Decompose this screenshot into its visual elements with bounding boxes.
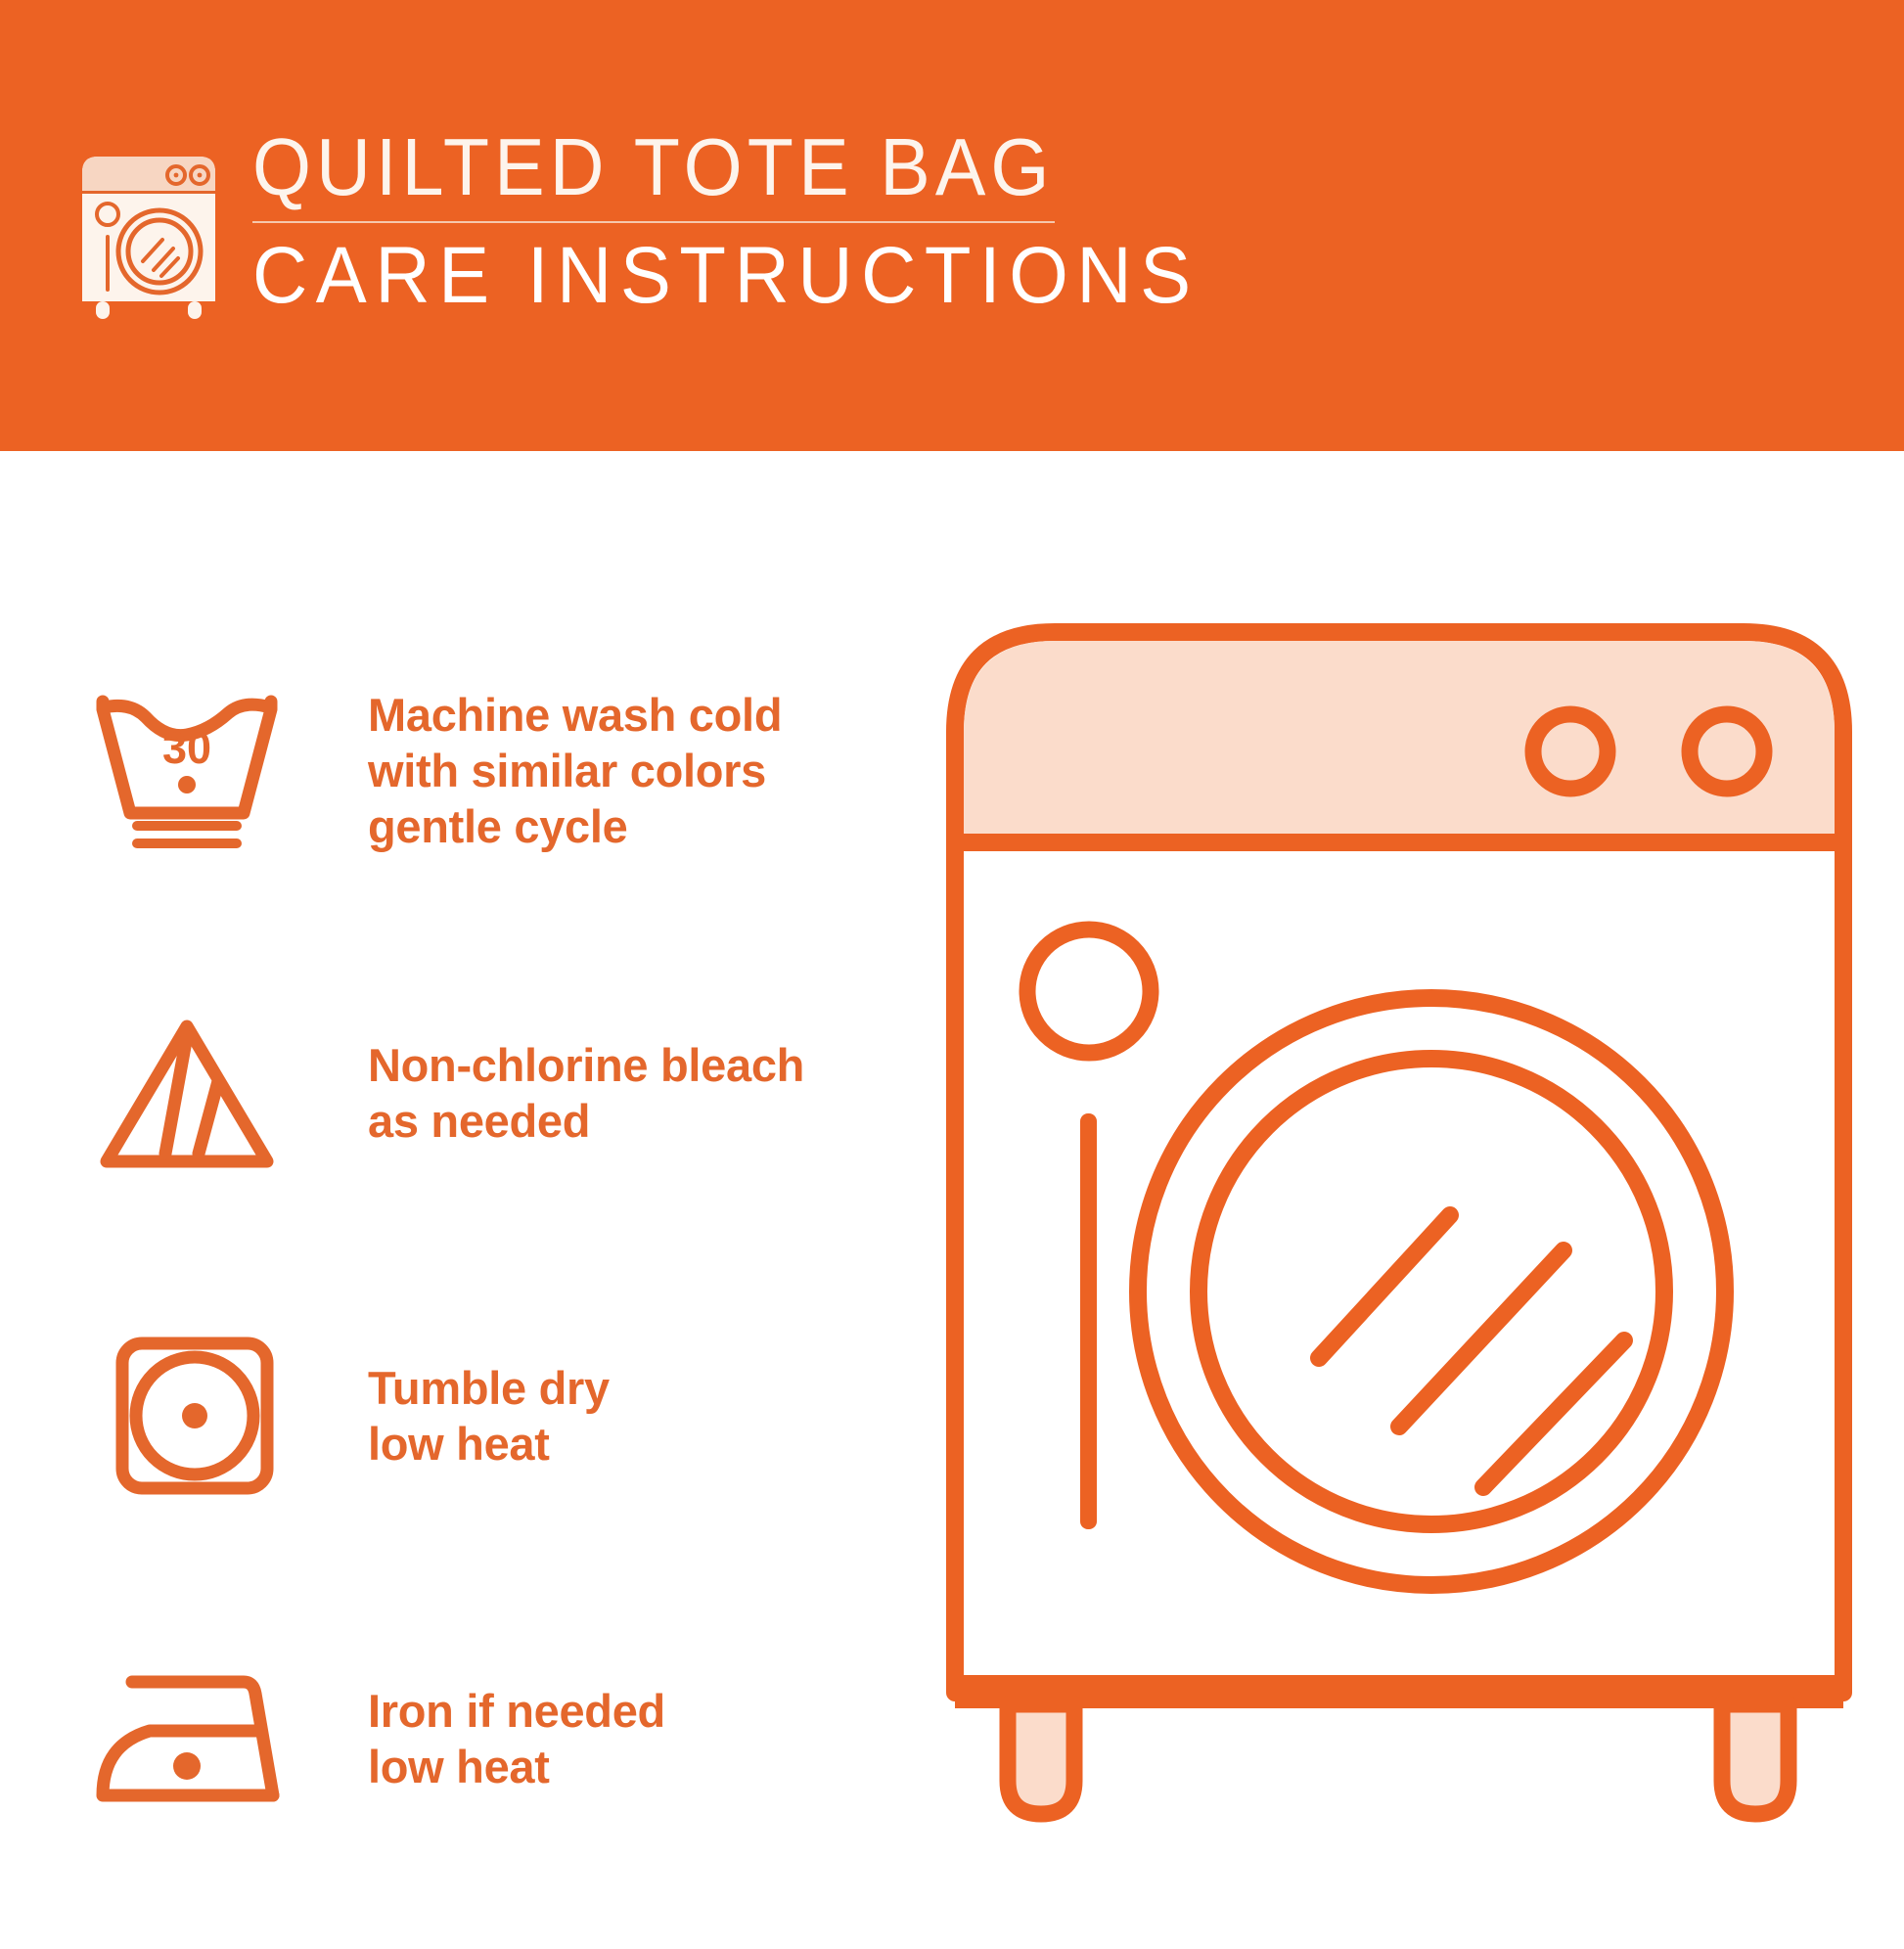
header-title-block: QUILTED TOTE BAG CARE INSTRUCTIONS <box>252 125 1249 319</box>
care-row-tumble-dry: Tumble dry low heat <box>76 1303 937 1528</box>
care-row-machine-wash: 30 Machine wash cold with similar colors… <box>76 657 937 883</box>
page-title-primary: QUILTED TOTE BAG <box>252 125 1179 209</box>
machine-base-bar <box>955 1675 1843 1708</box>
header-band: QUILTED TOTE BAG CARE INSTRUCTIONS <box>0 0 1904 451</box>
care-row-iron: Iron if needed low heat <box>76 1626 937 1851</box>
wash-temperature-value: 30 <box>161 723 210 773</box>
iron-low-heat-icon <box>76 1656 296 1821</box>
care-row-bleach: Non-chlorine bleach as needed <box>76 980 937 1205</box>
care-instruction-list: 30 Machine wash cold with similar colors… <box>76 657 937 1949</box>
knob-right <box>1690 714 1764 789</box>
washing-machine-icon <box>76 137 221 323</box>
machine-side-line <box>1080 1113 1097 1529</box>
machine-leg-right <box>1722 1704 1789 1814</box>
machine-leg-left <box>1008 1704 1074 1814</box>
care-label-tumble-dry: Tumble dry low heat <box>368 1360 937 1472</box>
washing-machine-illustration <box>939 616 1859 1849</box>
title-divider <box>252 221 1055 223</box>
panel-divider <box>955 834 1843 851</box>
tumble-dry-low-icon <box>76 1334 296 1498</box>
care-label-bleach: Non-chlorine bleach as needed <box>368 1037 937 1149</box>
non-chlorine-bleach-triangle-icon <box>76 1011 296 1175</box>
wash-tub-30-gentle-icon: 30 <box>76 688 296 852</box>
care-label-machine-wash: Machine wash cold with similar colors ge… <box>368 687 937 854</box>
page-title-secondary: CARE INSTRUCTIONS <box>252 233 1200 319</box>
header-content: QUILTED TOTE BAG CARE INSTRUCTIONS <box>76 125 1153 350</box>
knob-left <box>1533 714 1608 789</box>
care-label-iron: Iron if needed low heat <box>368 1683 937 1794</box>
